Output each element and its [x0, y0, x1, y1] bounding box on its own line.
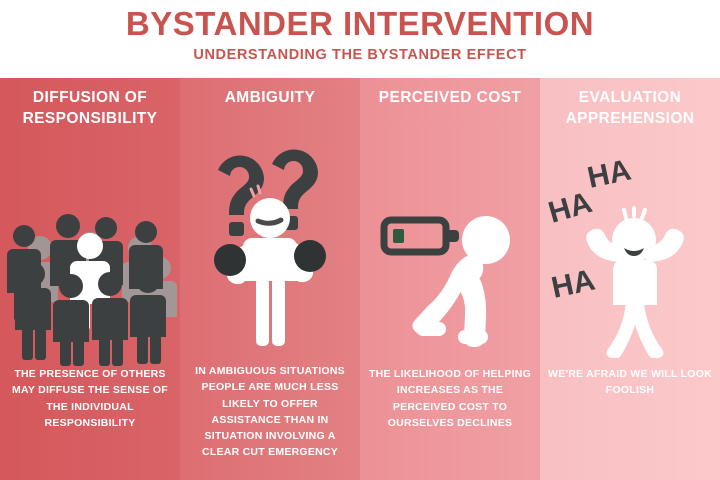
- columns-container: DIFFUSION OF RESPONSIBILITY: [0, 78, 720, 480]
- laughter-text: HA: [545, 186, 596, 230]
- column-perceived-cost: PERCEIVED COST: [360, 78, 540, 480]
- embarrassed-person: [586, 208, 684, 358]
- column-heading: AMBIGUITY: [180, 88, 360, 109]
- column-heading: EVALUATION APPREHENSION: [540, 88, 720, 130]
- column-body-text: WE'RE AFRAID WE WILL LOOK FOOLISH: [548, 366, 712, 399]
- tired-person: [412, 216, 510, 347]
- column-ambiguity: AMBIGUITY: [180, 78, 360, 480]
- embarrassed-person-with-laughter-illustration: HA HA HA: [540, 148, 720, 358]
- evaluation-apprehension-svg: HA HA HA: [540, 148, 720, 358]
- shrugging-person-with-question-marks-illustration: [180, 138, 360, 348]
- perceived-cost-svg: [360, 190, 540, 360]
- ambiguity-svg: [180, 138, 360, 348]
- crowd-of-people-illustration: [0, 196, 180, 366]
- hand-dark: [294, 240, 326, 272]
- column-heading: PERCEIVED COST: [360, 88, 540, 109]
- stress-marks: [624, 208, 645, 218]
- infographic-poster: BYSTANDER INTERVENTION UNDERSTANDING THE…: [0, 0, 720, 480]
- column-body-text: IN AMBIGUOUS SITUATIONS PEOPLE ARE MUCH …: [188, 363, 352, 461]
- tired-person-with-low-battery-illustration: [360, 190, 540, 360]
- hand-dark: [214, 244, 246, 276]
- laughter-text: HA: [549, 264, 598, 305]
- page-title: BYSTANDER INTERVENTION: [0, 0, 720, 42]
- poster-header: BYSTANDER INTERVENTION UNDERSTANDING THE…: [0, 0, 720, 78]
- column-heading: DIFFUSION OF RESPONSIBILITY: [0, 88, 180, 130]
- laughter-text: HA: [585, 154, 634, 195]
- crowd-svg: [0, 196, 180, 366]
- column-body-text: THE PRESENCE OF OTHERS MAY DIFFUSE THE S…: [8, 366, 172, 431]
- page-subtitle: UNDERSTANDING THE BYSTANDER EFFECT: [0, 42, 720, 63]
- low-battery-icon: [384, 220, 459, 252]
- column-body-text: THE LIKELIHOOD OF HELPING INCREASES AS T…: [368, 366, 532, 431]
- column-evaluation-apprehension: EVALUATION APPREHENSION HA HA HA: [540, 78, 720, 480]
- column-diffusion-of-responsibility: DIFFUSION OF RESPONSIBILITY: [0, 78, 180, 480]
